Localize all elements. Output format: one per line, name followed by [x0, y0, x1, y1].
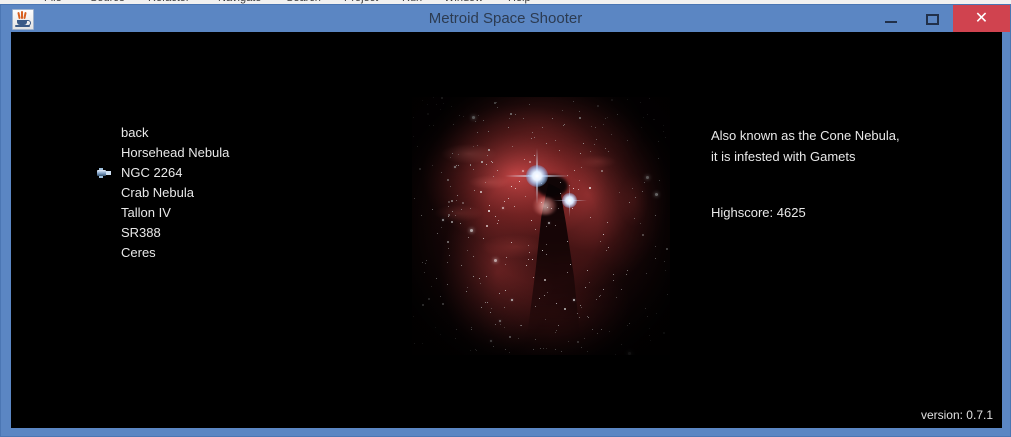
menu-item-label: NGC 2264 — [121, 163, 182, 183]
title-bar[interactable]: Metroid Space Shooter ✕ — [1, 5, 1010, 32]
ship-cursor-icon — [97, 168, 113, 178]
description-line-2: it is infested with Gamets — [711, 146, 981, 167]
menu-item-back[interactable]: back — [86, 123, 346, 143]
nebula-selection-menu: back Horsehead Nebula NGC 2264 — [86, 123, 346, 263]
cursor-slot — [97, 188, 113, 198]
cursor-slot — [97, 208, 113, 218]
maximize-icon — [926, 14, 939, 25]
menu-item-ngc-2264[interactable]: NGC 2264 — [86, 163, 346, 183]
menu-item-label: Tallon IV — [121, 203, 171, 223]
nebula-info-panel: Also known as the Cone Nebula, it is inf… — [711, 125, 981, 167]
cursor-slot — [97, 168, 113, 178]
ngc-2264-cone-nebula-image — [412, 97, 670, 355]
menu-item-label: Horsehead Nebula — [121, 143, 229, 163]
window-title: Metroid Space Shooter — [1, 5, 1010, 32]
cursor-slot — [97, 128, 113, 138]
cursor-slot — [97, 228, 113, 238]
menu-item-label: back — [121, 123, 148, 143]
minimize-button[interactable] — [871, 5, 912, 32]
close-button[interactable]: ✕ — [953, 5, 1010, 32]
cursor-slot — [97, 248, 113, 258]
menu-item-label: Crab Nebula — [121, 183, 194, 203]
game-canvas[interactable]: back Horsehead Nebula NGC 2264 — [11, 32, 1002, 428]
menu-item-ceres[interactable]: Ceres — [86, 243, 346, 263]
menu-item-tallon-iv[interactable]: Tallon IV — [86, 203, 346, 223]
cursor-slot — [97, 148, 113, 158]
java-coffee-cup-icon[interactable] — [12, 9, 34, 30]
window-controls: ✕ — [871, 5, 1010, 32]
nebula-vignette — [412, 97, 670, 355]
menu-item-horsehead-nebula[interactable]: Horsehead Nebula — [86, 143, 346, 163]
version-label: version: 0.7.1 — [921, 408, 993, 422]
description-line-1: Also known as the Cone Nebula, — [711, 125, 981, 146]
menu-item-crab-nebula[interactable]: Crab Nebula — [86, 183, 346, 203]
menu-item-label: Ceres — [121, 243, 156, 263]
close-icon: ✕ — [953, 5, 1010, 32]
menu-item-sr388[interactable]: SR388 — [86, 223, 346, 243]
application-window: Metroid Space Shooter ✕ back Horsehead N… — [0, 4, 1011, 437]
maximize-button[interactable] — [912, 5, 953, 32]
minimize-icon — [885, 21, 897, 23]
highscore-label: Highscore: 4625 — [711, 205, 806, 220]
menu-item-label: SR388 — [121, 223, 161, 243]
